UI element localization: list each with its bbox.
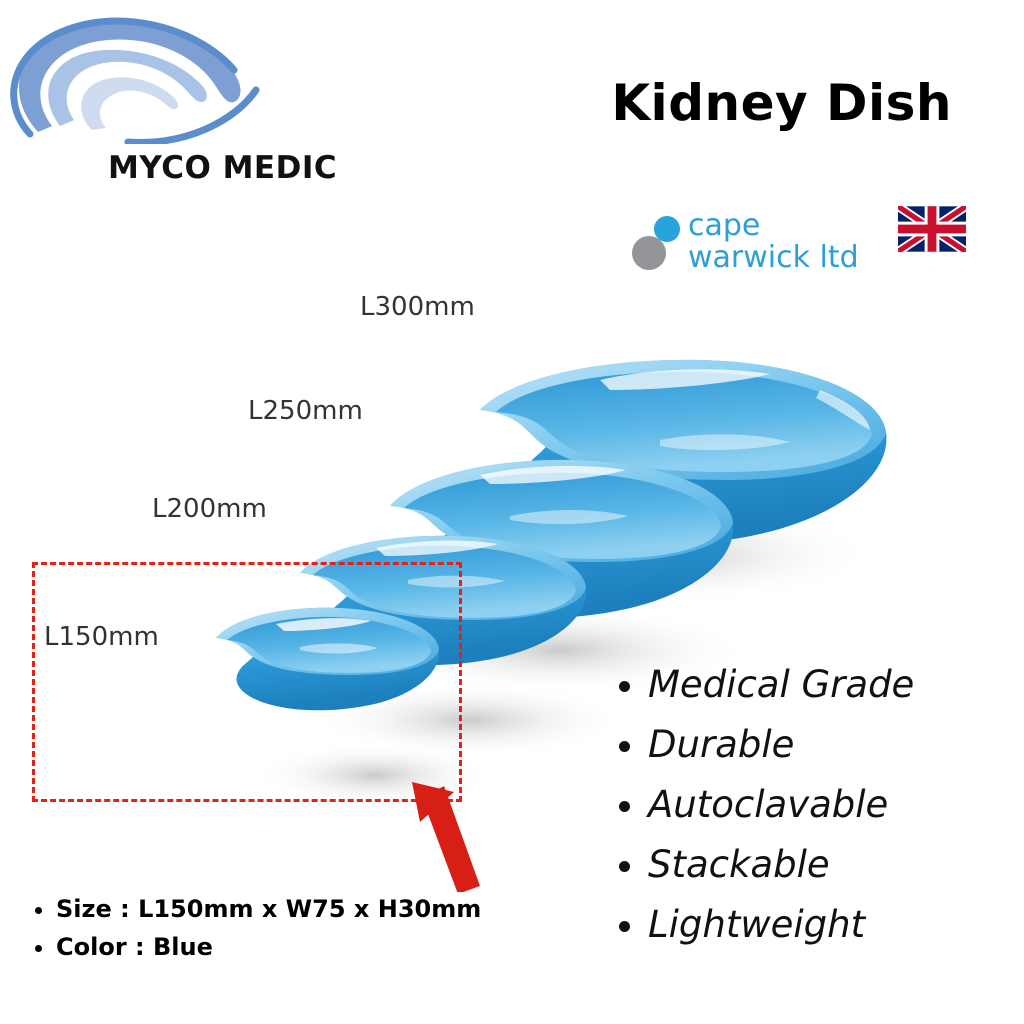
spec-item-color: Color : Blue [56, 928, 628, 966]
partner-name-line2: warwick ltd [688, 242, 859, 274]
feature-item: Autoclavable [648, 775, 1020, 835]
feature-list: Medical Grade Durable Autoclavable Stack… [620, 655, 1020, 955]
size-label-l200: L200mm [152, 494, 267, 524]
feature-item: Stackable [648, 835, 1020, 895]
brand-name: MYCO MEDIC [108, 150, 337, 186]
feature-item: Lightweight [648, 895, 1020, 955]
partner-name-line1: cape [688, 210, 859, 242]
uk-flag-icon [898, 206, 966, 252]
spec-item-size: Size : L150mm x W75 x H30mm [56, 890, 628, 928]
swirl-logo-icon [8, 14, 308, 144]
size-label-l250: L250mm [248, 396, 363, 426]
up-arrow-icon [392, 782, 482, 892]
spec-list: Size : L150mm x W75 x H30mm Color : Blue [28, 890, 628, 967]
partner-logo: cape warwick ltd [630, 208, 900, 278]
partner-logo-text: cape warwick ltd [688, 210, 859, 274]
size-label-l300: L300mm [360, 292, 475, 322]
brand-logo: MYCO MEDIC [8, 14, 338, 204]
page-title: Kidney Dish [611, 74, 952, 132]
feature-item: Medical Grade [648, 655, 1020, 715]
highlight-box [32, 562, 462, 802]
partner-blue-dot-icon [654, 216, 680, 242]
feature-item: Durable [648, 715, 1020, 775]
partner-grey-dot-icon [632, 236, 666, 270]
